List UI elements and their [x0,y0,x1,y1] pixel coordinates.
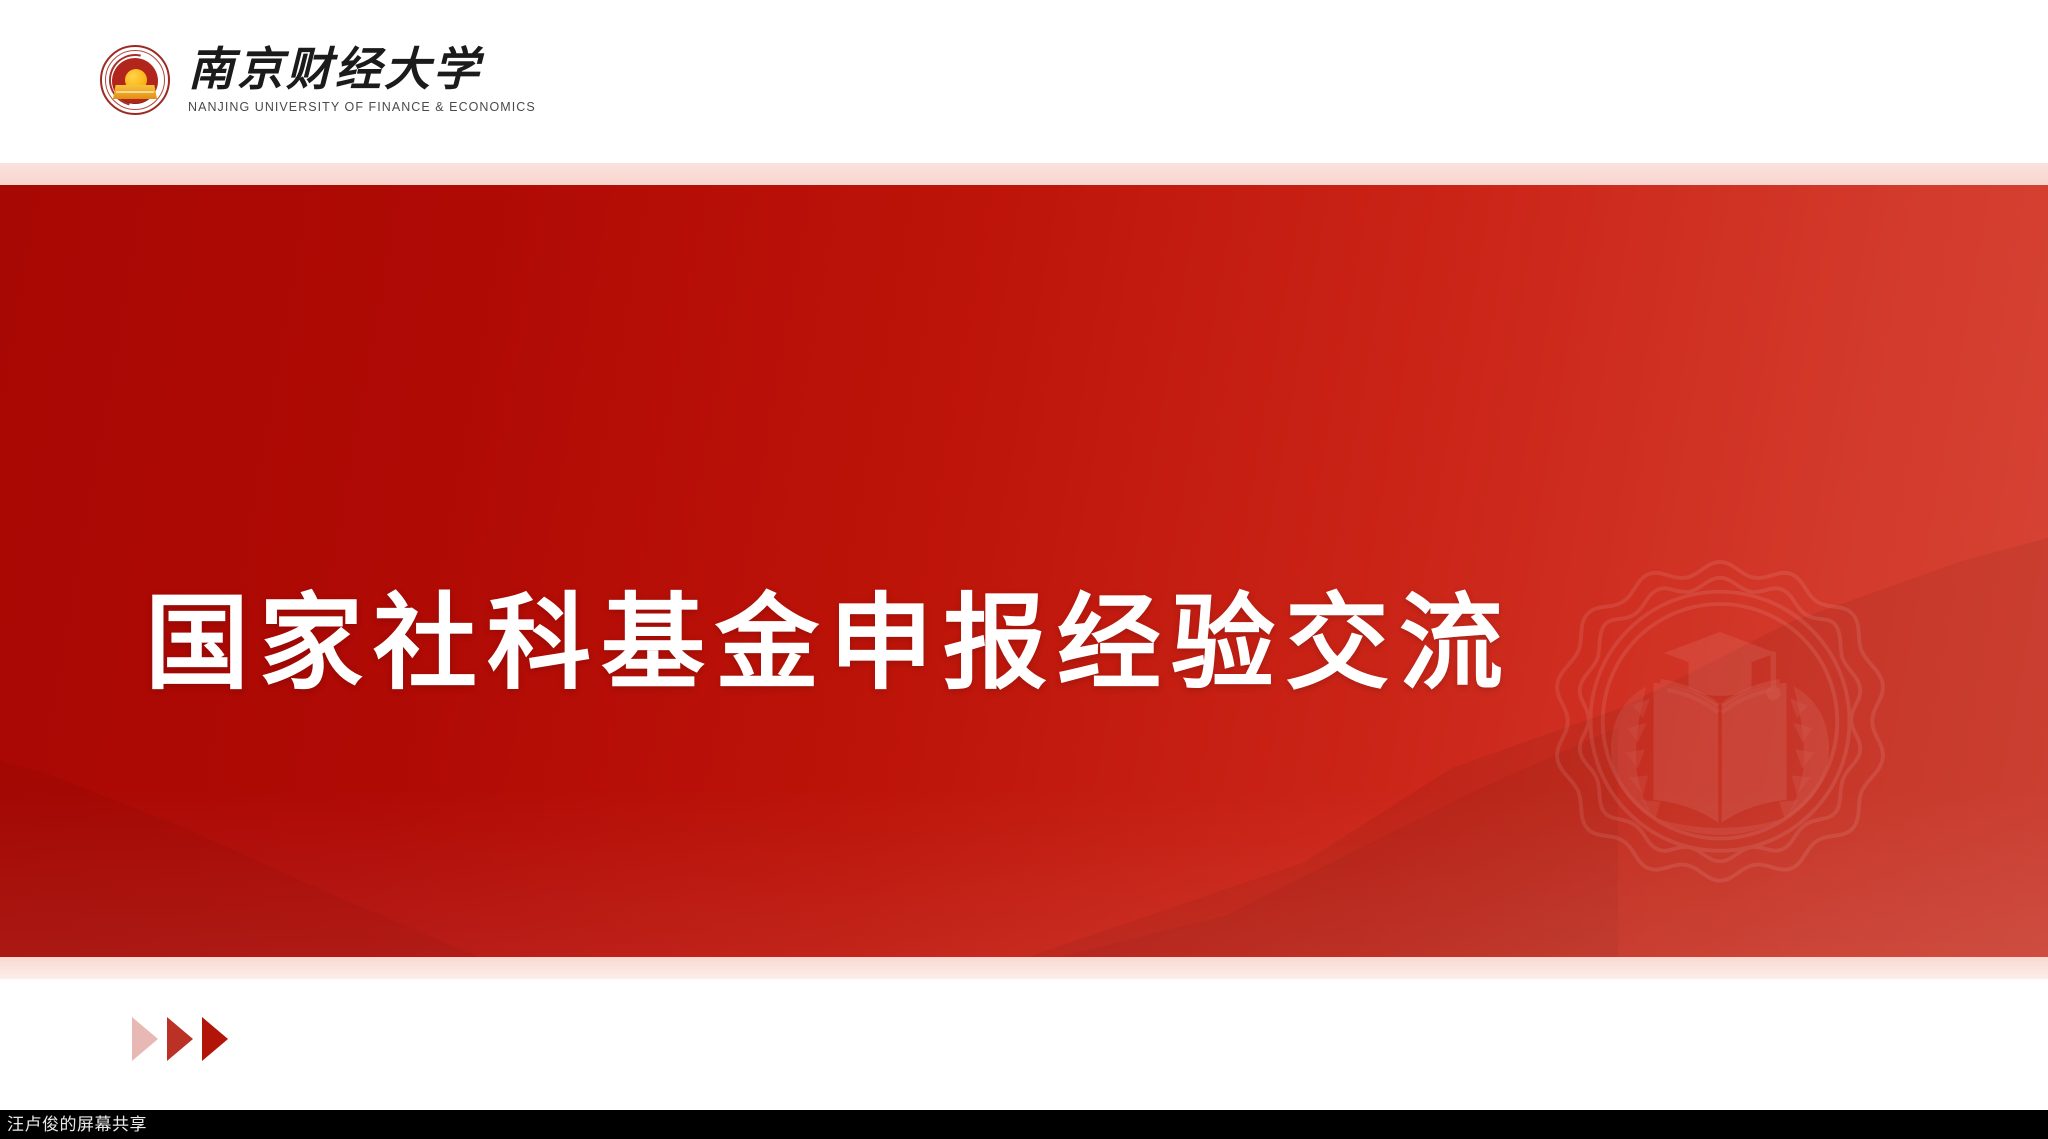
university-logo: 南京财经大学 NANJING UNIVERSITY OF FINANCE & E… [100,45,536,115]
chevron-right-icon [167,1017,193,1061]
screen-share-label: 汪卢俊的屏幕共享 [0,1116,147,1133]
university-name-en: NANJING UNIVERSITY OF FINANCE & ECONOMIC… [188,100,536,114]
university-name-cn: 南京财经大学 [188,46,536,94]
chevron-right-icon [202,1017,228,1061]
chevron-decoration [132,1017,228,1061]
academic-seal-watermark-icon [1545,555,1895,905]
page-title: 国家社科基金申报经验交流 [145,583,1595,708]
accent-rail-bottom [0,957,2048,979]
university-seal-icon [100,45,170,115]
accent-rail-top [0,163,2048,185]
screenshot-root: 南京财经大学 NANJING UNIVERSITY OF FINANCE & E… [0,0,2048,1139]
chevron-right-icon [132,1017,158,1061]
presentation-slide: 南京财经大学 NANJING UNIVERSITY OF FINANCE & E… [0,0,2048,1110]
university-wordmark: 南京财经大学 NANJING UNIVERSITY OF FINANCE & E… [188,46,536,113]
slide-header: 南京财经大学 NANJING UNIVERSITY OF FINANCE & E… [0,0,2048,160]
screen-share-bar: 汪卢俊的屏幕共享 [0,1110,2048,1139]
title-banner: 国家社科基金申报经验交流 汇报人：汪卢俊 [0,185,2048,957]
